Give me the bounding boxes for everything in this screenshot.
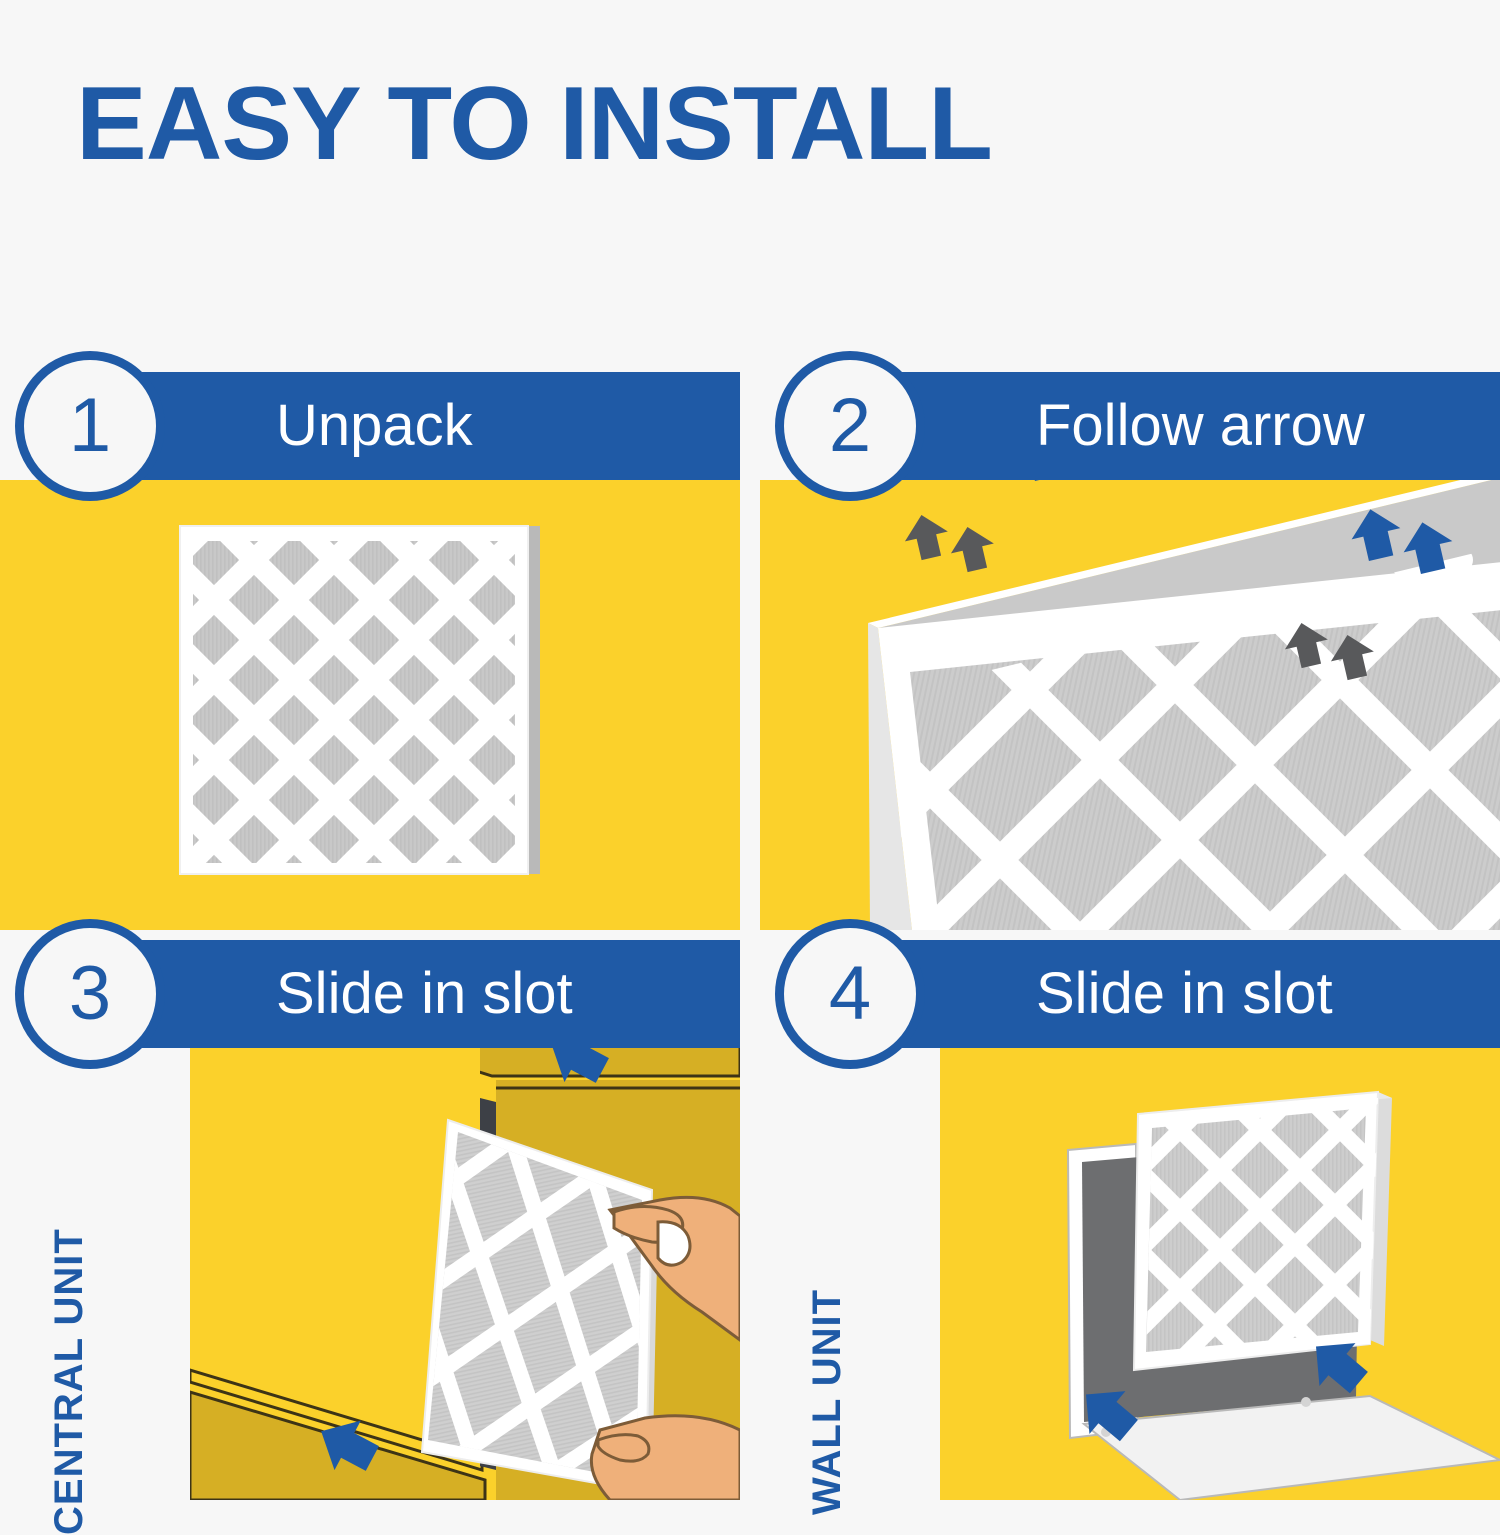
step-2-header: Follow arrow	[840, 372, 1500, 480]
step-2-number-badge: 2	[775, 351, 925, 501]
flat-filter-front-view-svg	[0, 480, 740, 930]
page-title: EASY TO INSTALL	[76, 72, 992, 176]
step-3-number-badge: 3	[15, 919, 165, 1069]
step-3-label: Slide in slot	[276, 965, 573, 1023]
tilted-filter-airflow-svg	[760, 480, 1500, 930]
step-2-illustration	[760, 480, 1500, 930]
step-1-illustration	[0, 480, 740, 930]
step-2-label: Follow arrow	[1036, 397, 1365, 455]
step-4-number-badge: 4	[775, 919, 925, 1069]
step-4-number: 4	[784, 928, 916, 1060]
infographic-root: EASY TO INSTALL	[0, 0, 1500, 1500]
airflow-arrow-grey-left	[900, 510, 999, 575]
step-3-illustration	[190, 1040, 740, 1500]
step-4-label: Slide in slot	[1036, 965, 1333, 1023]
airflow-arrow-blue-pair-left	[960, 480, 1072, 484]
step-4-header: Slide in slot	[840, 940, 1500, 1048]
wall-unit-insert-svg	[940, 1040, 1500, 1500]
step-3-number: 3	[24, 928, 156, 1060]
step-3-header: Slide in slot	[80, 940, 740, 1048]
central-unit-insert-svg	[190, 1040, 740, 1500]
step-1-number: 1	[24, 360, 156, 492]
step-1-number-badge: 1	[15, 351, 165, 501]
hand-lower	[591, 1416, 740, 1500]
step-4-side-label: WALL UNIT	[805, 1289, 850, 1515]
step-1-header: Unpack	[80, 372, 740, 480]
step-2-number: 2	[784, 360, 916, 492]
step-4-illustration	[940, 1040, 1500, 1500]
step-3-side-label: CENTRAL UNIT	[47, 1228, 92, 1535]
step-1-label: Unpack	[276, 397, 473, 455]
